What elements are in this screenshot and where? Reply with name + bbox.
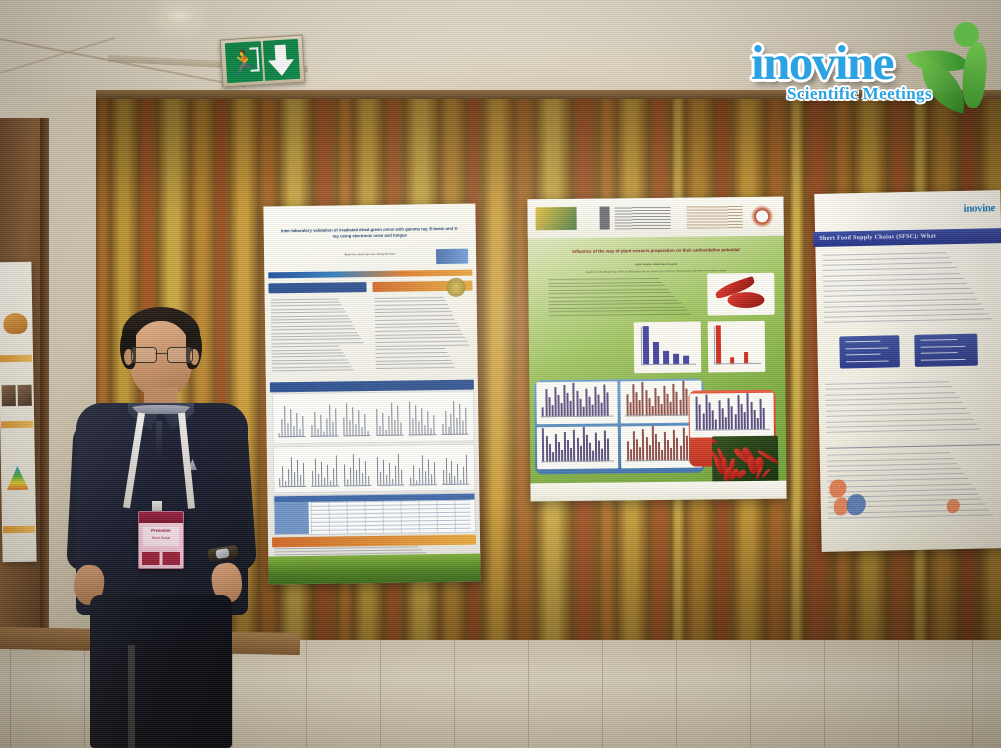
poster-sliver-band-2 (2, 421, 33, 428)
chart-axis-x (541, 416, 614, 417)
bar (673, 354, 679, 365)
text-line (375, 297, 444, 299)
poster-sliver[interactable] (0, 262, 37, 563)
bar (679, 399, 681, 415)
text-line (376, 367, 455, 369)
poster-onion-chromatogram-row-1 (272, 391, 474, 445)
text-line (272, 335, 360, 337)
bar (604, 384, 606, 416)
bar (630, 402, 632, 415)
chart-axis-x (625, 415, 698, 416)
table-row (311, 524, 470, 527)
bar (589, 443, 591, 461)
shirt-placket (156, 421, 162, 465)
chromatogram-peak (466, 407, 467, 434)
bar (636, 392, 638, 416)
bar (554, 387, 556, 416)
text-line (375, 322, 457, 324)
chromatogram-peak (380, 472, 381, 485)
bar (583, 427, 585, 461)
chromatogram-peak (318, 474, 319, 486)
text-line (826, 381, 949, 385)
exit-arrow-panel (262, 39, 300, 81)
chromatogram-peak (409, 402, 410, 436)
text-line (826, 386, 953, 390)
floor-tile-seam (898, 640, 899, 748)
poster-extracts-panel-chart-1 (536, 381, 618, 424)
chromatogram-peak (356, 470, 357, 486)
chromatogram-peak (288, 469, 289, 487)
text-line (375, 304, 447, 306)
poster-sfsc-methodology-text (826, 380, 998, 441)
bar (642, 429, 644, 461)
logo-university-of-life-sciences (535, 207, 576, 230)
text-line (376, 359, 451, 361)
text-line (375, 326, 459, 328)
poster-extracts-pepper-image (707, 272, 774, 315)
text-line (376, 363, 453, 365)
bar (604, 431, 606, 461)
chromatogram-cell (407, 395, 437, 439)
badge-footer-bar (142, 552, 181, 564)
chromatogram-cell (309, 397, 339, 441)
text-line (826, 418, 973, 422)
bar (551, 405, 553, 416)
chromatogram-cell (374, 396, 404, 440)
chromatogram-peak (321, 462, 322, 486)
chromatogram-peak (397, 406, 398, 435)
poster-sfsc-divider (825, 444, 1000, 449)
bar (670, 402, 672, 416)
chromatogram-cell (342, 449, 372, 489)
text-line (272, 369, 353, 371)
chromatogram-axis (376, 435, 403, 436)
badge-name-text: Presenter (139, 528, 183, 533)
floor-tile-seam (602, 640, 603, 748)
chromatogram-axis (279, 486, 306, 487)
text-line (375, 300, 446, 302)
bar (607, 392, 609, 416)
bar (686, 436, 688, 460)
bar (750, 402, 752, 430)
chromatogram-axis (410, 484, 437, 485)
poster-extracts-chart-red (708, 321, 765, 373)
chromatogram-peak (398, 454, 399, 486)
text-line (271, 301, 340, 303)
text-line (271, 325, 353, 327)
name-badge: Presenter Name Badge (138, 511, 184, 569)
chromatogram-peak (303, 463, 304, 487)
chromatogram-peak (443, 470, 444, 484)
chromatogram-peak (391, 403, 392, 436)
text-line (376, 344, 469, 346)
chromatogram-peak (282, 466, 283, 487)
text-line (376, 348, 446, 350)
bar (558, 442, 560, 462)
poster-sfsc-intro-text (823, 251, 996, 330)
chart-axis-x (541, 460, 614, 461)
bar (639, 400, 641, 416)
chromatogram-peak (350, 421, 351, 437)
text-line (375, 308, 449, 310)
chili-pepper (712, 437, 718, 444)
callout-text-line (846, 341, 881, 343)
poster-onion-data-table (274, 493, 476, 536)
chromatogram-cell (310, 449, 340, 489)
logo-ministry-of-science-text (615, 206, 672, 229)
text-line (549, 303, 681, 305)
text-line (272, 346, 340, 348)
text-line (824, 319, 992, 324)
bar (682, 381, 684, 415)
bar (598, 441, 600, 461)
chromatogram-cell (440, 395, 470, 439)
chromatogram-peak (449, 473, 450, 484)
floor-tile-seam (972, 640, 973, 748)
glasses-lens-left (131, 347, 157, 363)
inovine-wordmark: inovine (751, 34, 893, 91)
text-line (271, 308, 344, 310)
bar (702, 413, 704, 430)
bar (654, 388, 656, 416)
chromatogram-peak (290, 409, 291, 437)
photo-scene: 🏃 Inter-laboratory validation of irradia… (0, 0, 1001, 748)
chromatogram-peak (382, 413, 383, 436)
bar (561, 403, 563, 416)
text-line (272, 339, 362, 341)
chromatogram-peak (365, 414, 366, 436)
poster-extracts-chart-blue (634, 321, 701, 373)
text-line (375, 333, 463, 335)
bar (545, 389, 547, 416)
chromatogram-peak (353, 407, 354, 436)
bar (699, 405, 701, 430)
poster-sliver-photo-2 (17, 385, 32, 406)
chromatogram-peak (284, 406, 285, 437)
bar (548, 397, 550, 416)
floor-tile-seam (454, 640, 455, 748)
chromatogram-peak (401, 469, 402, 485)
bar (664, 432, 666, 460)
chromatogram-peak (297, 460, 298, 487)
text-line (824, 293, 975, 297)
chromatogram-peak (412, 418, 413, 435)
bar (712, 411, 714, 430)
poster-onion-table-first-column (275, 502, 309, 534)
text-line (827, 463, 957, 467)
text-line (549, 299, 678, 301)
bar (721, 408, 723, 429)
poster-sliver-band-1 (0, 355, 31, 362)
text-line (824, 308, 985, 312)
chromatogram-peak (389, 463, 390, 485)
poster-sliver-photo-1 (2, 385, 16, 406)
chromatogram-peak (422, 456, 423, 485)
chromatogram-peak (359, 458, 360, 486)
chromatogram-peak (400, 423, 401, 436)
chromatogram-axis (377, 485, 404, 486)
poster-onion[interactable]: Inter-laboratory validation of irradiate… (263, 204, 480, 585)
chromatogram-peak (365, 461, 366, 486)
chromatogram-peak (463, 467, 464, 484)
chromatogram-peak (463, 421, 464, 435)
chromatogram-peak (466, 455, 467, 485)
bar (655, 434, 657, 460)
chromatogram-peak (326, 418, 327, 436)
poster-extracts-panel-chart-3 (537, 426, 619, 469)
poster-onion-chromatogram-row-2 (273, 444, 475, 494)
chromatogram-peak (395, 466, 396, 485)
table-row (311, 504, 470, 507)
chromatogram-peak (353, 455, 354, 486)
chromatogram-axis (409, 434, 436, 435)
text-line (823, 262, 953, 266)
chromatogram-peak (431, 474, 432, 484)
chromatogram-peak (457, 464, 458, 484)
floor-tile-seam (380, 640, 381, 748)
chromatogram-peak (451, 461, 452, 485)
chromatogram-peak (335, 408, 336, 436)
bar (594, 386, 596, 416)
text-line (827, 429, 981, 433)
chromatogram-peak (427, 412, 428, 435)
text-line (271, 312, 346, 314)
text-line (828, 488, 975, 492)
chromatogram-peak (281, 419, 282, 437)
curtain-stripe (789, 90, 804, 656)
poster-onion-section-results (270, 379, 474, 392)
bar (542, 428, 544, 462)
bar (598, 394, 600, 416)
chromatogram-peak (344, 417, 345, 436)
bar (570, 401, 572, 417)
figure-body-icon (960, 41, 990, 109)
chromatogram-peak (302, 416, 303, 437)
bar (734, 414, 736, 429)
bar (545, 436, 547, 462)
bar (567, 440, 569, 462)
poster-onion-footer-photo (268, 553, 480, 584)
text-line (271, 315, 347, 317)
callout-text-line (921, 359, 966, 361)
text-line (826, 392, 956, 396)
table-row (311, 528, 470, 531)
poster-onion-seal (447, 277, 466, 296)
bar (744, 352, 749, 364)
text-line (823, 267, 956, 271)
bar (642, 382, 644, 416)
down-arrow-head-icon (268, 59, 295, 77)
poster-sfsc-callout-2 (914, 334, 978, 368)
text-line (376, 341, 468, 343)
chromatogram-axis (311, 436, 338, 437)
chromatogram-peak (350, 467, 351, 486)
bar (725, 417, 727, 430)
text-line (828, 468, 961, 472)
floor-tile-seam (528, 640, 529, 748)
chromatogram-peak (415, 405, 416, 435)
chromatogram-peak (460, 404, 461, 435)
bar (561, 450, 563, 462)
floor-tile-seam (306, 640, 307, 748)
text-line (824, 303, 981, 307)
bar (663, 350, 669, 364)
bar (576, 391, 578, 417)
bar (673, 383, 675, 415)
chromatogram-peak (413, 465, 414, 485)
bar (586, 435, 588, 461)
poster-sfsc[interactable]: inovine Short Food Supply Chains (SFSC):… (814, 190, 1001, 552)
chromatogram-peak (376, 409, 377, 435)
inovine-logo-overlay: inovine Scientific Meetings (743, 18, 995, 114)
exit-running-man-panel: 🏃 (225, 41, 263, 83)
bar (649, 445, 651, 461)
poster-sfsc-title: Short Food Supply Chains (SFSC): What (813, 234, 936, 243)
chromatogram-peak (457, 417, 458, 434)
chromatogram-peak (333, 468, 334, 486)
text-line (272, 349, 342, 351)
bar (580, 445, 582, 461)
text-line (549, 282, 663, 284)
chromatogram-axis (344, 485, 371, 486)
bar (639, 447, 641, 461)
chart-axis-x (641, 364, 697, 365)
text-line (824, 283, 968, 287)
text-line (375, 319, 455, 321)
bar (601, 402, 603, 416)
bar (718, 400, 720, 429)
poster-extracts-footer (530, 481, 786, 502)
exit-door-icon (249, 47, 259, 72)
chart-axis-y (640, 327, 641, 365)
bar (667, 440, 669, 460)
text-line (827, 453, 950, 457)
chromatogram-peak (394, 420, 395, 436)
chromatogram-peak (428, 459, 429, 485)
croissant-photo (3, 313, 28, 334)
text-line (271, 298, 338, 300)
text-line (272, 342, 363, 344)
bar (661, 404, 663, 416)
poster-extracts-panel-chart-5 (690, 393, 774, 438)
chromatogram-cell (408, 448, 438, 488)
bar (585, 389, 587, 417)
bar (670, 448, 672, 460)
bar (737, 396, 739, 430)
chromatogram-peak (419, 468, 420, 485)
poster-extracts-abstract-text (549, 278, 703, 280)
chromatogram-axis (311, 485, 338, 486)
text-line (272, 352, 344, 354)
bar (588, 396, 590, 416)
bar (680, 446, 682, 460)
text-line (549, 292, 672, 294)
poster-sfsc-title-banner: Short Food Supply Chains (SFSC): What (813, 228, 1001, 247)
bar (645, 437, 647, 461)
bar (682, 428, 684, 460)
chromatogram-peak (454, 401, 455, 435)
text-line (272, 366, 351, 368)
curtain-stripe (482, 90, 513, 656)
bar (573, 429, 575, 461)
bar (555, 434, 557, 462)
bar (657, 396, 659, 416)
callout-text-line (846, 360, 888, 362)
bar (753, 410, 755, 429)
text-line (549, 278, 660, 280)
chromatogram-cell (277, 450, 307, 490)
bar (645, 390, 647, 416)
chromatogram-peak (445, 411, 446, 435)
badge-header (139, 512, 183, 523)
bar (763, 408, 765, 429)
text-line (827, 458, 954, 462)
chromatogram-peak (329, 405, 330, 437)
bar (728, 398, 730, 430)
chromatogram-peak (347, 404, 348, 436)
bar (709, 402, 711, 429)
trouser-leg-split (128, 645, 135, 748)
text-line (271, 332, 357, 334)
chromatogram-peak (356, 424, 357, 436)
chromatogram-peak (294, 426, 295, 437)
chart-axis-x (694, 429, 769, 430)
poster-extracts[interactable]: Influence of the way of plant extracts p… (527, 197, 786, 502)
text-line (824, 278, 964, 282)
bar (633, 431, 635, 461)
chromatogram-peak (315, 459, 316, 487)
trousers (90, 595, 232, 748)
presenter: Presenter Name Badge (60, 295, 255, 748)
inovine-tagline: Scientific Meetings (787, 84, 932, 104)
text-line (824, 298, 978, 302)
poster-onion-institution-logo (436, 249, 468, 265)
chromatogram-peak (388, 416, 389, 435)
text-line (271, 328, 355, 330)
chart-axis-x (625, 460, 698, 461)
text-line (375, 311, 451, 313)
bar (567, 393, 569, 417)
bar (601, 449, 603, 461)
text-line (271, 322, 351, 324)
recessed-ceiling-light (163, 9, 197, 25)
text-line (826, 402, 963, 406)
badge-subtitle-text: Name Badge (139, 536, 183, 540)
chromatogram-peak (421, 408, 422, 435)
chromatogram-axis (278, 436, 305, 437)
poster-extracts-title: Influence of the way of plant extracts p… (538, 247, 774, 256)
chromatogram-peak (320, 415, 321, 437)
chart-axis-y (714, 326, 715, 364)
bar (648, 398, 650, 416)
bar (676, 391, 678, 415)
chromatogram-peak (344, 464, 345, 486)
callout-text-line (846, 354, 881, 356)
bar (626, 394, 628, 415)
chromatogram-peak (359, 411, 360, 436)
bar (747, 393, 749, 429)
chromatogram-axis (343, 435, 370, 436)
chromatogram-peak (291, 457, 292, 487)
nutrition-pyramid-diagram (6, 466, 28, 490)
bar (652, 426, 654, 460)
table-row (311, 516, 470, 519)
chromatogram-peak (294, 472, 295, 486)
bar (636, 439, 638, 461)
poster-extracts-authors: Rafał Gałązka, Małgorzata Nowacka (559, 262, 754, 268)
text-line (272, 356, 346, 358)
logo-ministry-mark (599, 206, 609, 229)
